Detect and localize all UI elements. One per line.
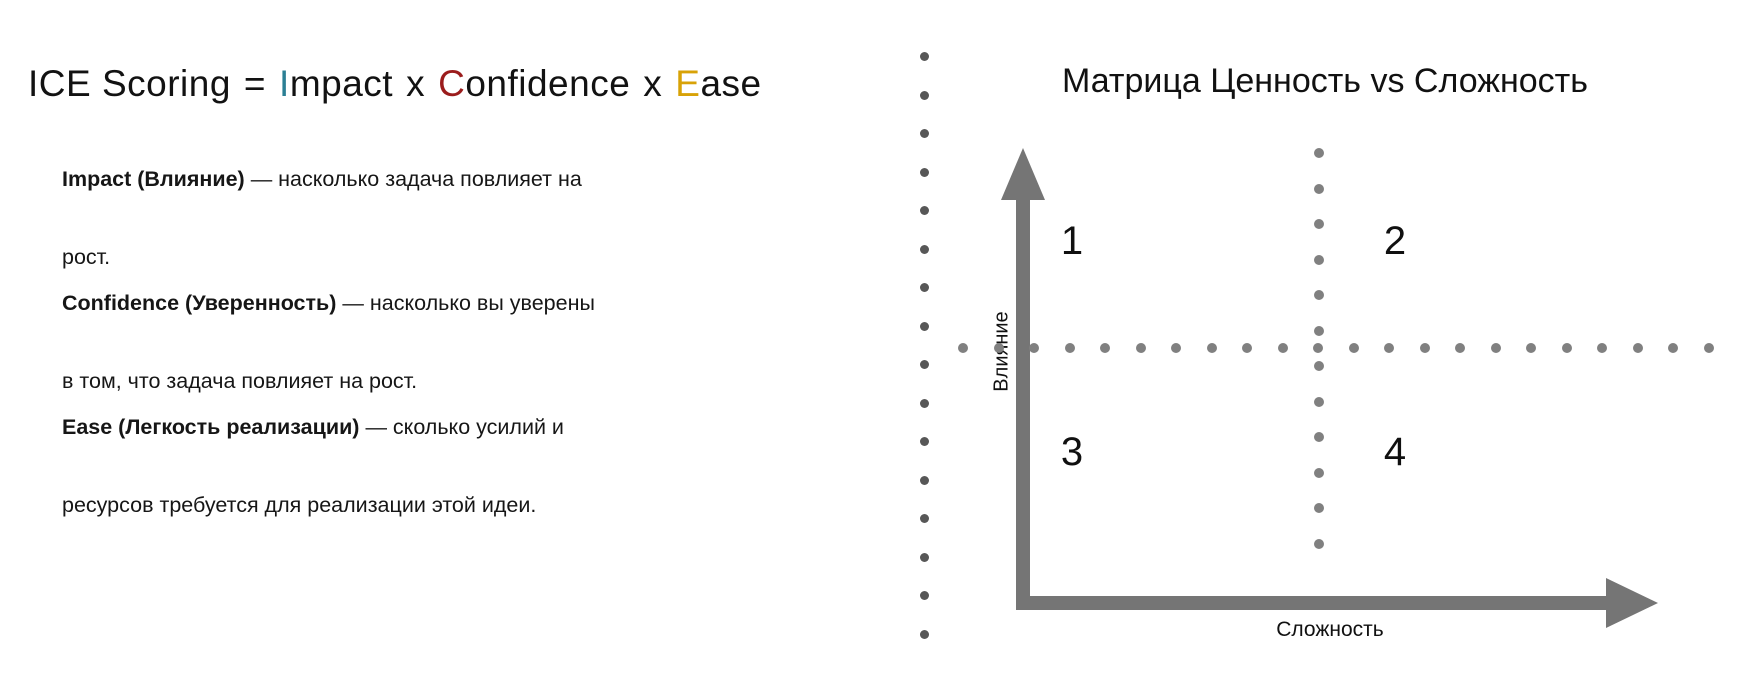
slide-canvas: ICE Scoring=ImpactxConfidencexEase Impac… [0,0,1740,677]
definition-ease-line1: Ease (Легкость реализации) — сколько уси… [62,388,862,466]
formula-prefix: ICE Scoring [28,63,231,104]
quadrant-divider-dot [1314,148,1324,158]
divider-dot [920,553,929,562]
quadrant-divider-dot [1314,326,1324,336]
divider-dot [920,52,929,61]
divider-dot [920,399,929,408]
divider-dot [920,129,929,138]
value-vs-complexity-matrix: Матрица Ценность vs Сложность Влияние Сл… [930,0,1740,677]
definition-impact-dash: — [251,167,273,191]
quadrant-divider-dot [1314,432,1324,442]
formula-equals: = [244,63,266,104]
quadrant-label-2: 2 [1365,219,1425,264]
divider-dot [920,630,929,639]
quadrant-divider-dot [1314,503,1324,513]
definition-ease-line2: ресурсов требуется для реализации этой и… [62,466,862,544]
definition-confidence-dash: — [342,291,364,315]
definition-confidence-term: Confidence (Уверенность) [62,291,336,315]
formula-ease-rest: ase [700,63,761,104]
definition-impact-text: насколько задача повлияет на [278,167,582,191]
formula-impact-initial: I [279,63,290,104]
quadrant-divider-dot [1314,290,1324,300]
definition-confidence-line1: Confidence (Уверенность) — насколько вы … [62,264,862,342]
divider-dot [920,206,929,215]
formula-confidence-rest: onfidence [465,63,630,104]
ice-formula-heading: ICE Scoring=ImpactxConfidencexEase [28,63,762,105]
quadrant-divider-dot [1314,468,1324,478]
definition-ease: Ease (Легкость реализации) — сколько уси… [62,388,862,544]
definition-ease-dash: — [365,415,387,439]
definition-impact-term: Impact (Влияние) [62,167,245,191]
formula-times-2: x [643,63,662,104]
divider-dot [920,168,929,177]
quadrant-divider-dot [1314,184,1324,194]
quadrant-divider-dot [1314,255,1324,265]
divider-dot [920,360,929,369]
divider-dot [920,283,929,292]
definition-confidence-text: насколько вы уверены [370,291,595,315]
divider-dot [920,514,929,523]
quadrant-divider-dot [1314,361,1324,371]
vertical-dotted-divider [930,0,1740,677]
quadrant-divider-dot [1314,219,1324,229]
divider-dot [920,91,929,100]
divider-dot [920,591,929,600]
divider-dot [920,245,929,254]
divider-dot [920,476,929,485]
ice-scoring-panel: ICE Scoring=ImpactxConfidencexEase Impac… [0,0,900,677]
quadrant-label-1: 1 [1042,219,1102,264]
definition-ease-term: Ease (Легкость реализации) [62,415,359,439]
quadrant-divider-dot [1314,397,1324,407]
divider-dot [920,437,929,446]
definition-ease-text: сколько усилий и [393,415,564,439]
quadrant-label-3: 3 [1042,430,1102,475]
formula-times-1: x [406,63,425,104]
definition-impact-line1: Impact (Влияние) — насколько задача повл… [62,140,862,218]
panel-dotted-divider [920,52,929,634]
quadrant-divider-dot [1314,539,1324,549]
formula-confidence-initial: C [438,63,465,104]
formula-ease-initial: E [675,63,700,104]
quadrant-label-4: 4 [1365,430,1425,475]
formula-impact-rest: mpact [290,63,393,104]
divider-dot [920,322,929,331]
